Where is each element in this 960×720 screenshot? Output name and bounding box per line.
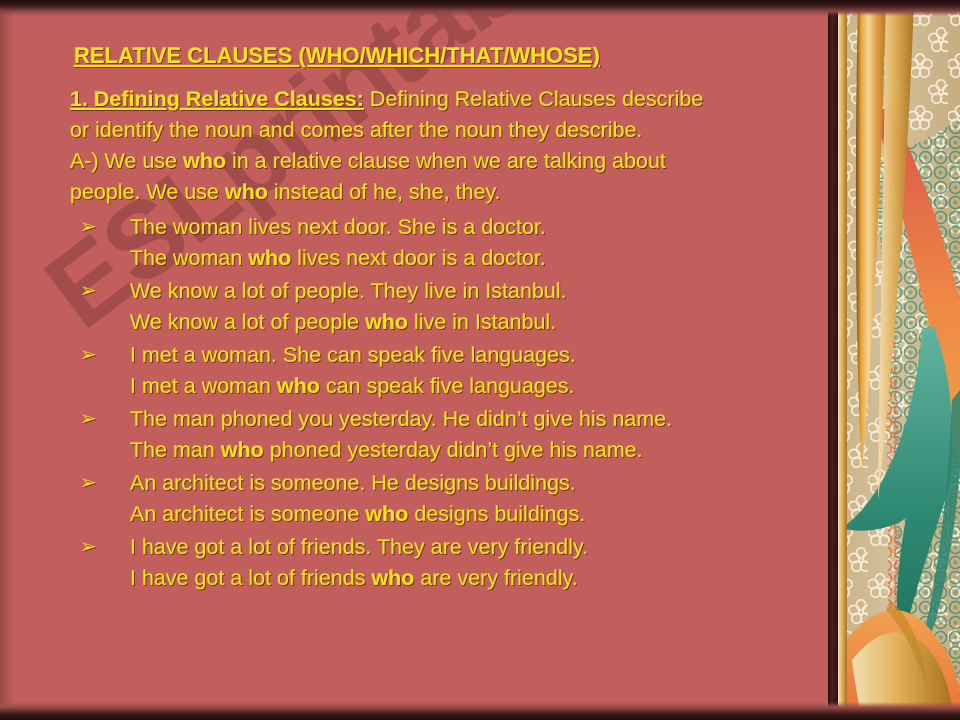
example-rewrite: I met a woman who can speak five languag… xyxy=(66,371,876,402)
definition-heading: 1. Defining Relative Clauses: xyxy=(70,87,364,111)
panel-dark-edge xyxy=(828,0,838,720)
rewrite-keyword: who xyxy=(277,374,320,398)
presentation-slide: ESLprintables.com RELATIVE CLAUSES (WHO/… xyxy=(0,0,960,720)
slide-title: RELATIVE CLAUSES (WHO/WHICH/THAT/WHOSE) xyxy=(66,40,876,71)
rule-line-1-keyword: who xyxy=(183,149,226,173)
list-item: ➢ I have got a lot of friends. They are … xyxy=(66,532,876,594)
example-original: The woman lives next door. She is a doct… xyxy=(130,212,876,243)
list-item: ➢ The woman lives next door. She is a do… xyxy=(66,212,876,274)
rewrite-pre: I met a woman xyxy=(130,374,277,398)
arrow-bullet-icon: ➢ xyxy=(66,404,130,435)
rule-line-2-keyword: who xyxy=(225,180,268,204)
slide-bottom-edge xyxy=(0,702,960,720)
example-rewrite: An architect is someone who designs buil… xyxy=(66,499,876,530)
rule-line-2-post: instead of he, she, they. xyxy=(268,180,501,204)
definition-line-1: 1. Defining Relative Clauses: Defining R… xyxy=(66,84,876,115)
rewrite-keyword: who xyxy=(365,310,408,334)
rewrite-post: lives next door is a doctor. xyxy=(291,246,546,270)
list-item: ➢ We know a lot of people. They live in … xyxy=(66,276,876,338)
definition-line-2: or identify the noun and comes after the… xyxy=(66,115,876,146)
rule-line-2: people. We use who instead of he, she, t… xyxy=(66,177,876,208)
rewrite-keyword: who xyxy=(221,438,264,462)
list-item: ➢ The man phoned you yesterday. He didn’… xyxy=(66,404,876,466)
rewrite-pre: An architect is someone xyxy=(130,502,365,526)
rewrite-post: are very friendly. xyxy=(414,566,577,590)
example-original: An architect is someone. He designs buil… xyxy=(130,468,876,499)
rule-line-2-pre: people. We use xyxy=(70,180,225,204)
rewrite-post: phoned yesterday didn’t give his name. xyxy=(264,438,643,462)
example-original: I have got a lot of friends. They are ve… xyxy=(130,532,876,563)
arrow-bullet-icon: ➢ xyxy=(66,468,130,499)
definition-text-1: Defining Relative Clauses describe xyxy=(364,87,703,111)
decorative-border-panel xyxy=(828,0,960,720)
slide-left-edge xyxy=(0,0,14,720)
rewrite-keyword: who xyxy=(248,246,291,270)
arrow-bullet-icon: ➢ xyxy=(66,276,130,307)
rewrite-pre: The woman xyxy=(130,246,248,270)
example-rewrite: The woman who lives next door is a docto… xyxy=(66,243,876,274)
rewrite-keyword: who xyxy=(365,502,408,526)
rewrite-post: live in Istanbul. xyxy=(408,310,556,334)
rewrite-keyword: who xyxy=(371,566,414,590)
list-item: ➢ I met a woman. She can speak five lang… xyxy=(66,340,876,402)
example-original: We know a lot of people. They live in Is… xyxy=(130,276,876,307)
rewrite-post: can speak five languages. xyxy=(320,374,575,398)
slide-top-edge xyxy=(0,0,960,16)
arrow-bullet-icon: ➢ xyxy=(66,340,130,371)
list-item: ➢ An architect is someone. He designs bu… xyxy=(66,468,876,530)
example-rewrite: The man who phoned yesterday didn’t give… xyxy=(66,435,876,466)
example-rewrite: I have got a lot of friends who are very… xyxy=(66,563,876,594)
arrow-bullet-icon: ➢ xyxy=(66,532,130,563)
slide-content: RELATIVE CLAUSES (WHO/WHICH/THAT/WHOSE) … xyxy=(66,40,876,596)
examples-list: ➢ The woman lives next door. She is a do… xyxy=(66,212,876,594)
example-rewrite: We know a lot of people who live in Ista… xyxy=(66,307,876,338)
rewrite-pre: I have got a lot of friends xyxy=(130,566,371,590)
rewrite-post: designs buildings. xyxy=(408,502,585,526)
arrow-bullet-icon: ➢ xyxy=(66,212,130,243)
rewrite-pre: The man xyxy=(130,438,221,462)
example-original: I met a woman. She can speak five langua… xyxy=(130,340,876,371)
rule-line-1-pre: A-) We use xyxy=(70,149,183,173)
rule-line-1: A-) We use who in a relative clause when… xyxy=(66,146,876,177)
rule-line-1-post: in a relative clause when we are talking… xyxy=(226,149,666,173)
example-original: The man phoned you yesterday. He didn’t … xyxy=(130,404,876,435)
rewrite-pre: We know a lot of people xyxy=(130,310,365,334)
decorative-border-graphic xyxy=(828,0,960,720)
